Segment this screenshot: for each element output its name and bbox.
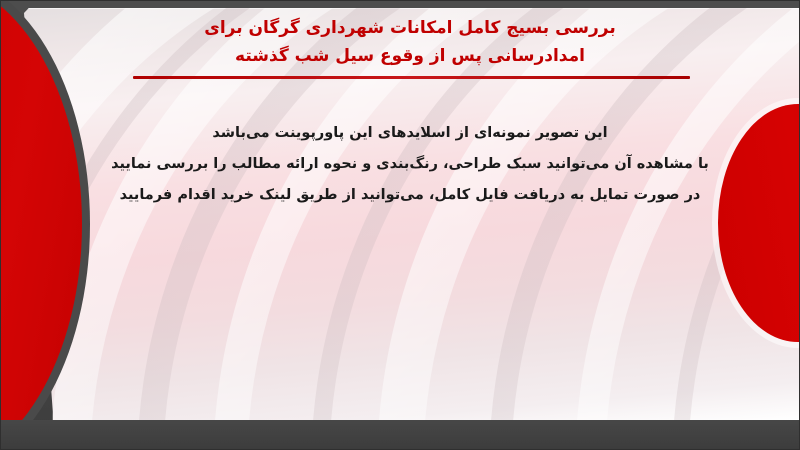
presentation-slide: بررسی بسیج کامل امکانات شهرداری گرگان بر…	[0, 0, 800, 450]
slide-body-line-2: با مشاهده آن می‌توانید سبک طراحی، رنگ‌بن…	[100, 149, 720, 180]
slide-bottom-band	[0, 420, 800, 450]
title-divider-rule	[133, 76, 690, 79]
slide-body-line-3: در صورت تمایل به دریافت فایل کامل، می‌تو…	[100, 180, 720, 211]
slide-title-line-2: امدادرسانی پس از وقوع سیل شب گذشته	[120, 42, 700, 70]
slide-title-line-1: بررسی بسیج کامل امکانات شهرداری گرگان بر…	[120, 14, 700, 42]
slide-body-line-1: این تصویر نمونه‌ای از اسلایدهای این پاور…	[100, 118, 720, 149]
slide-body-text: این تصویر نمونه‌ای از اسلایدهای این پاور…	[100, 118, 720, 211]
slide-title: بررسی بسیج کامل امکانات شهرداری گرگان بر…	[120, 14, 700, 70]
